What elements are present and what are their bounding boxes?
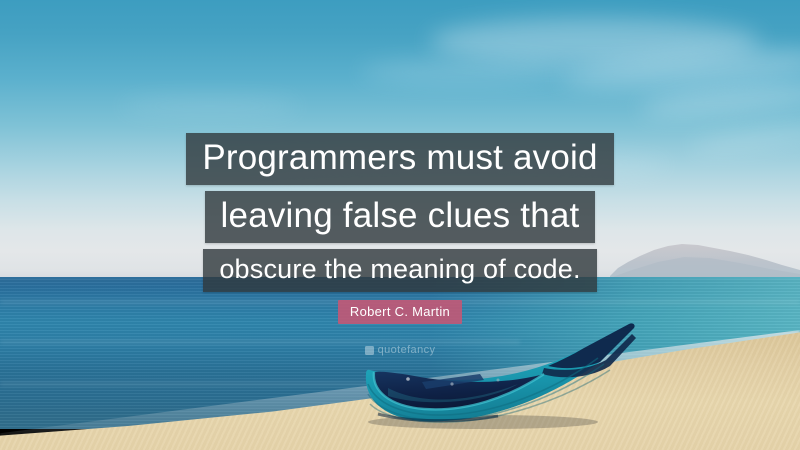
quote-line-3: obscure the meaning of code.: [203, 249, 596, 292]
quote-line-1: Programmers must avoid: [186, 133, 613, 185]
quote-wallpaper-image: Programmers must avoid leaving false clu…: [0, 0, 800, 450]
author-attribution: Robert C. Martin: [0, 300, 800, 324]
quote-text-block: Programmers must avoid leaving false clu…: [0, 133, 800, 292]
author-name-badge: Robert C. Martin: [338, 300, 462, 324]
quote-line-2: leaving false clues that: [205, 191, 596, 243]
